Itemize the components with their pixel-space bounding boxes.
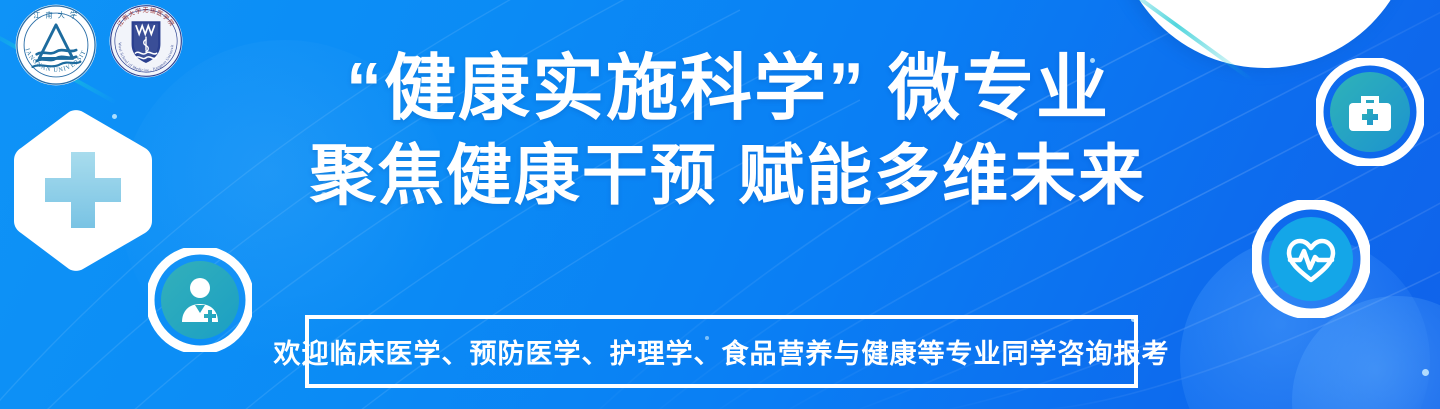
- promo-banner: 江 南 大 学 JIANGNAN UNIVERSITY: [0, 0, 1440, 409]
- callout-box: 欢迎临床医学、预防医学、护理学、食品营养与健康等专业同学咨询报考: [305, 315, 1138, 388]
- medical-cross-hexagon-icon: [8, 108, 158, 273]
- headline-line-1: “健康实施科学” 微专业: [248, 52, 1208, 126]
- heartbeat-icon: [1252, 200, 1370, 323]
- headline-line-2: 聚焦健康干预 赋能多维未来: [248, 142, 1208, 210]
- headline-block: “健康实施科学” 微专业 聚焦健康干预 赋能多维未来: [248, 52, 1208, 210]
- decor-dot: [1422, 369, 1429, 376]
- callout-text: 欢迎临床医学、预防医学、护理学、食品营养与健康等专业同学咨询报考: [274, 332, 1170, 371]
- medical-kit-icon: [1316, 58, 1424, 171]
- logo-group: 江 南 大 学 JIANGNAN UNIVERSITY: [14, 3, 184, 87]
- doctor-icon: [148, 248, 252, 357]
- jiangnan-university-logo: 江 南 大 学 JIANGNAN UNIVERSITY: [14, 3, 98, 87]
- svg-text:江 南 大 学: 江 南 大 学: [33, 10, 79, 19]
- wuxi-school-of-medicine-logo: 江南大学无锡医学院 Wuxi School of Medicine , Jian…: [108, 3, 184, 79]
